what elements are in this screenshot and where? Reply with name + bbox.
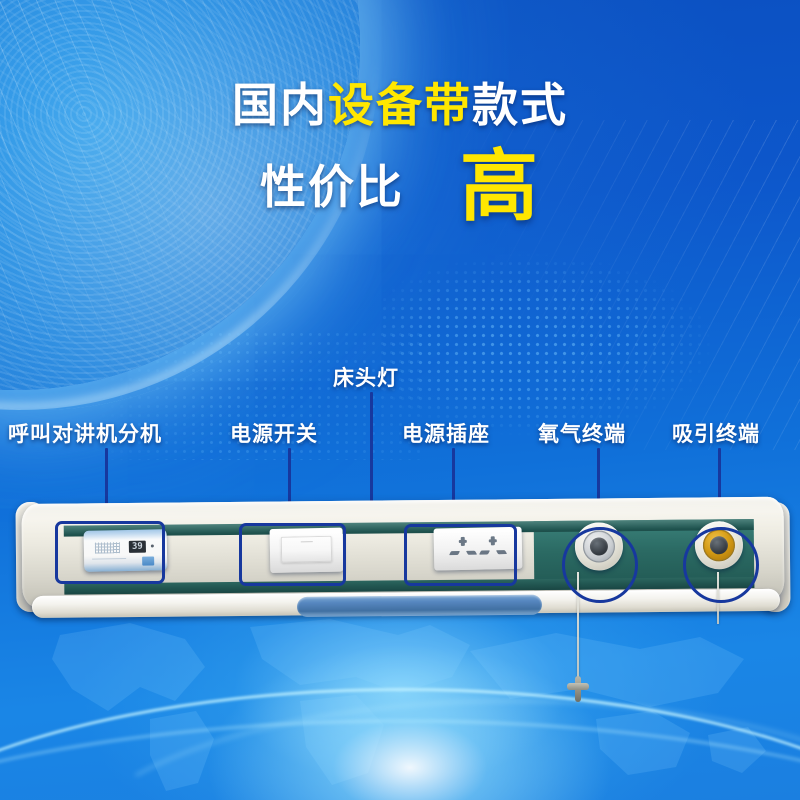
rail-slider-block[interactable] [297, 595, 542, 617]
highlight-box-switch [239, 523, 346, 586]
callout-label-power-socket: 电源插座 [402, 418, 490, 448]
callout-label-nurse-call-intercom: 呼叫对讲机分机 [8, 418, 162, 448]
callout-label-oxygen-terminal: 氧气终端 [538, 418, 626, 448]
highlight-circle-suction [683, 527, 759, 603]
callout-label-group: 呼叫对讲机分机 电源开关 床头灯 电源插座 氧气终端 吸引终端 [0, 0, 800, 800]
highlight-box-socket [404, 524, 517, 586]
callout-label-power-switch: 电源开关 [230, 418, 318, 448]
oxygen-pull-cord-handle[interactable] [567, 676, 589, 702]
highlight-circle-oxygen [562, 527, 638, 603]
callout-label-bedside-lamp: 床头灯 [333, 362, 399, 392]
callout-label-suction-terminal: 吸引终端 [672, 418, 760, 448]
highlight-box-intercom [55, 521, 165, 584]
promo-banner: 国内设备带款式 性价比高 呼叫对讲机分机 电源开关 床头灯 电源插座 氧气终端 … [0, 0, 800, 800]
